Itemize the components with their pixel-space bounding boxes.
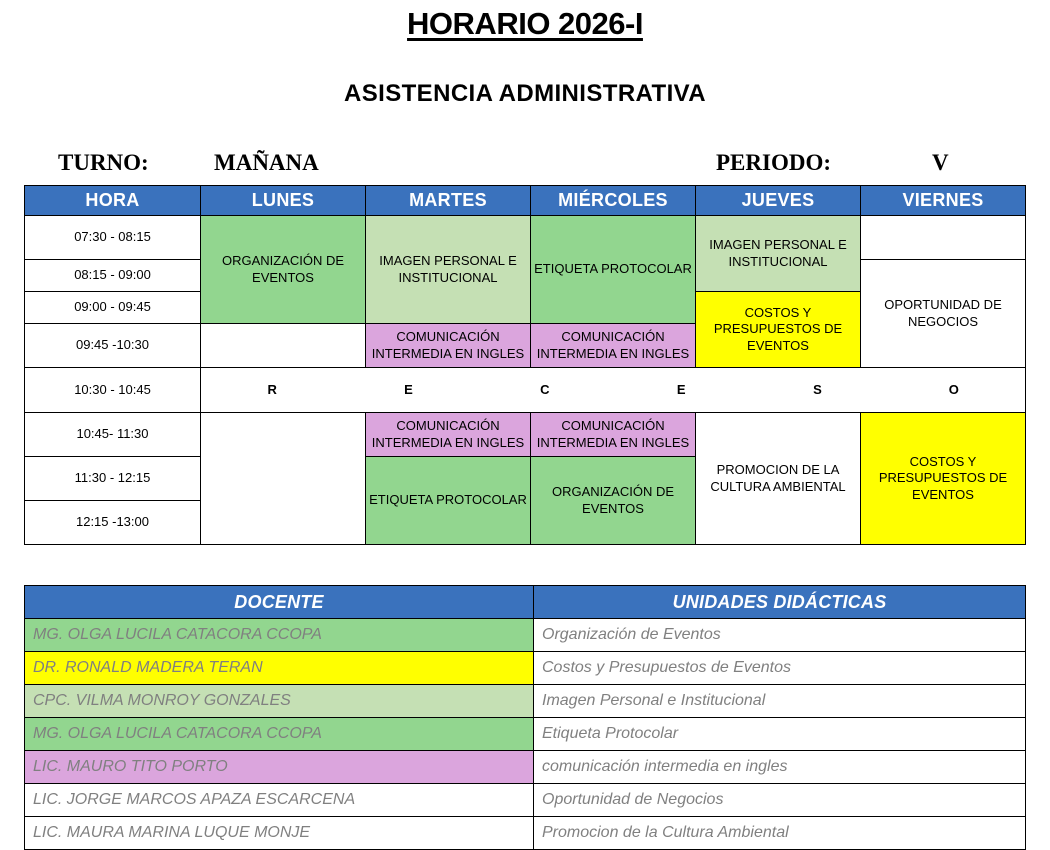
legend-row: LIC. MAURO TITO PORTO comunicación inter… <box>25 751 1026 784</box>
receso-letter-4: E <box>613 382 749 398</box>
legend-row: LIC. MAURA MARINA LUQUE MONJE Promocion … <box>25 817 1026 850</box>
page-subtitle: ASISTENCIA ADMINISTRATIVA <box>0 80 1050 108</box>
legend-unidad: Etiqueta Protocolar <box>534 718 1026 751</box>
legend-unidad: Imagen Personal e Institucional <box>534 685 1026 718</box>
class-cell-miercoles-comunicacion-2: COMUNICACIÓN INTERMEDIA EN INGLES <box>531 413 696 457</box>
meta-row: TURNO: MAÑANA PERIODO: V <box>24 150 1026 180</box>
periodo-label: PERIODO: <box>716 150 831 176</box>
page-title: HORARIO 2026-I <box>0 6 1050 42</box>
time-slot-8: 12:15 -13:00 <box>25 501 201 545</box>
column-header-lunes: LUNES <box>201 186 366 216</box>
time-slot-4: 09:45 -10:30 <box>25 324 201 368</box>
class-cell-viernes-oportunidad: OPORTUNIDAD DE NEGOCIOS <box>861 260 1026 368</box>
legend-row: DR. RONALD MADERA TERAN Costos y Presupu… <box>25 652 1026 685</box>
legend-unidad: Promocion de la Cultura Ambiental <box>534 817 1026 850</box>
legend-unidad: comunicación intermedia en ingles <box>534 751 1026 784</box>
legend-header-docente: DOCENTE <box>25 586 534 619</box>
legend-row: MG. OLGA LUCILA CATACORA CCOPA Etiqueta … <box>25 718 1026 751</box>
schedule-table: HORA LUNES MARTES MIÉRCOLES JUEVES VIERN… <box>24 185 1026 545</box>
time-slot-1: 07:30 - 08:15 <box>25 216 201 260</box>
legend-header-row: DOCENTE UNIDADES DIDÁCTICAS <box>25 586 1026 619</box>
receso-letter-6: O <box>886 382 1022 398</box>
receso-letter-1: R <box>204 382 340 398</box>
legend-docente: LIC. MAURA MARINA LUQUE MONJE <box>25 817 534 850</box>
table-row: 10:45- 11:30 COMUNICACIÓN INTERMEDIA EN … <box>25 413 1026 457</box>
time-slot-3: 09:00 - 09:45 <box>25 292 201 324</box>
legend-unidad: Costos y Presupuestos de Eventos <box>534 652 1026 685</box>
column-header-miercoles: MIÉRCOLES <box>531 186 696 216</box>
legend-docente: LIC. MAURO TITO PORTO <box>25 751 534 784</box>
class-cell-viernes-empty-1 <box>861 216 1026 260</box>
legend-unidad: Organización de Eventos <box>534 619 1026 652</box>
legend-header-unidades: UNIDADES DIDÁCTICAS <box>534 586 1026 619</box>
turno-value: MAÑANA <box>214 150 319 176</box>
legend-row: MG. OLGA LUCILA CATACORA CCOPA Organizac… <box>25 619 1026 652</box>
legend-unidad: Oportunidad de Negocios <box>534 784 1026 817</box>
class-cell-martes-comunicacion-2: COMUNICACIÓN INTERMEDIA EN INGLES <box>366 413 531 457</box>
schedule-document: HORARIO 2026-I ASISTENCIA ADMINISTRATIVA… <box>0 0 1050 848</box>
turno-label: TURNO: <box>58 150 149 176</box>
column-header-viernes: VIERNES <box>861 186 1026 216</box>
legend-docente: DR. RONALD MADERA TERAN <box>25 652 534 685</box>
table-row-receso: 10:30 - 10:45 R E C E S O <box>25 368 1026 413</box>
legend-docente: LIC. JORGE MARCOS APAZA ESCARCENA <box>25 784 534 817</box>
class-cell-miercoles-comunicacion: COMUNICACIÓN INTERMEDIA EN INGLES <box>531 324 696 368</box>
class-cell-viernes-costos: COSTOS Y PRESUPUESTOS DE EVENTOS <box>861 413 1026 545</box>
class-cell-jueves-costos: COSTOS Y PRESUPUESTOS DE EVENTOS <box>696 292 861 368</box>
class-cell-martes-imagen: IMAGEN PERSONAL E INSTITUCIONAL <box>366 216 531 324</box>
receso-letter-5: S <box>749 382 885 398</box>
class-cell-jueves-imagen: IMAGEN PERSONAL E INSTITUCIONAL <box>696 216 861 292</box>
legend-table: DOCENTE UNIDADES DIDÁCTICAS MG. OLGA LUC… <box>24 585 1026 850</box>
class-cell-miercoles-organizacion: ORGANIZACIÓN DE EVENTOS <box>531 457 696 545</box>
legend-docente: MG. OLGA LUCILA CATACORA CCOPA <box>25 619 534 652</box>
class-cell-jueves-promocion: PROMOCION DE LA CULTURA AMBIENTAL <box>696 413 861 545</box>
time-slot-7: 11:30 - 12:15 <box>25 457 201 501</box>
column-header-martes: MARTES <box>366 186 531 216</box>
class-cell-lunes-organizacion: ORGANIZACIÓN DE EVENTOS <box>201 216 366 324</box>
legend-row: CPC. VILMA MONROY GONZALES Imagen Person… <box>25 685 1026 718</box>
column-header-hora: HORA <box>25 186 201 216</box>
receso-letter-2: E <box>340 382 476 398</box>
time-slot-6: 10:45- 11:30 <box>25 413 201 457</box>
legend-docente: MG. OLGA LUCILA CATACORA CCOPA <box>25 718 534 751</box>
receso-letter-3: C <box>477 382 613 398</box>
legend-row: LIC. JORGE MARCOS APAZA ESCARCENA Oportu… <box>25 784 1026 817</box>
table-row: 07:30 - 08:15 ORGANIZACIÓN DE EVENTOS IM… <box>25 216 1026 260</box>
class-cell-martes-etiqueta: ETIQUETA PROTOCOLAR <box>366 457 531 545</box>
periodo-value: V <box>932 150 949 176</box>
class-cell-miercoles-etiqueta: ETIQUETA PROTOCOLAR <box>531 216 696 324</box>
time-slot-2: 08:15 - 09:00 <box>25 260 201 292</box>
receso-cell: R E C E S O <box>201 368 1026 413</box>
class-cell-lunes-empty-2 <box>201 413 366 545</box>
legend-docente: CPC. VILMA MONROY GONZALES <box>25 685 534 718</box>
class-cell-martes-comunicacion: COMUNICACIÓN INTERMEDIA EN INGLES <box>366 324 531 368</box>
schedule-header-row: HORA LUNES MARTES MIÉRCOLES JUEVES VIERN… <box>25 186 1026 216</box>
time-slot-5: 10:30 - 10:45 <box>25 368 201 413</box>
class-cell-lunes-empty-1 <box>201 324 366 368</box>
column-header-jueves: JUEVES <box>696 186 861 216</box>
